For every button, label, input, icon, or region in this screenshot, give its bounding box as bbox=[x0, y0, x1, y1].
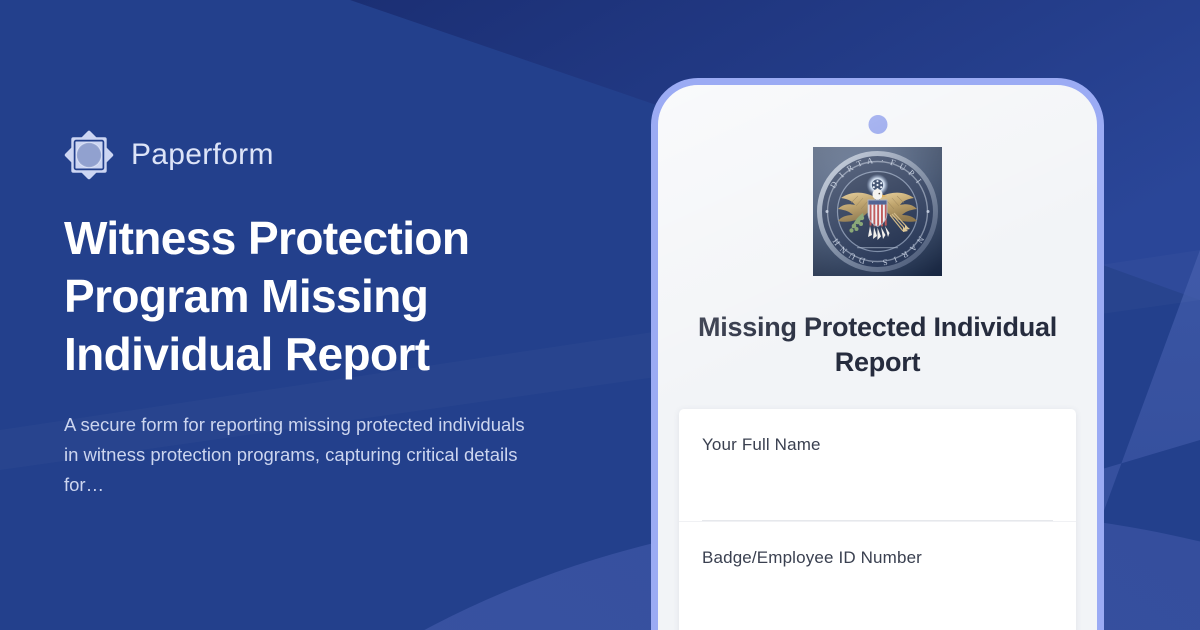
page-description: A secure form for reporting missing prot… bbox=[64, 410, 534, 500]
brand-name: Paperform bbox=[131, 138, 274, 172]
government-seal-eagle-emblem-icon: D I R T A · F U P I N A R I S · D bbox=[813, 147, 942, 276]
hero-content: Paperform Witness Protection Program Mis… bbox=[64, 0, 604, 630]
svg-text:A: A bbox=[866, 155, 874, 166]
text-input[interactable] bbox=[702, 590, 1053, 630]
form-heading: Missing Protected Individual Report bbox=[658, 310, 1097, 380]
form-card: Your Full Name Badge/Employee ID Number bbox=[679, 409, 1076, 630]
phone-screen-content: D I R T A · F U P I N A R I S · D bbox=[658, 85, 1097, 630]
field-label: Badge/Employee ID Number bbox=[702, 548, 1053, 568]
page-title: Witness Protection Program Missing Indiv… bbox=[64, 210, 534, 383]
form-field-badge-employee-id-number[interactable]: Badge/Employee ID Number bbox=[679, 521, 1076, 630]
brand-lockup: Paperform bbox=[64, 130, 604, 180]
field-label: Your Full Name bbox=[702, 435, 1053, 455]
text-input[interactable] bbox=[702, 477, 1053, 521]
form-field-your-full-name[interactable]: Your Full Name bbox=[679, 409, 1076, 521]
phone-mockup: D I R T A · F U P I N A R I S · D bbox=[651, 78, 1104, 630]
paperform-rosette-logo-icon bbox=[64, 130, 114, 180]
